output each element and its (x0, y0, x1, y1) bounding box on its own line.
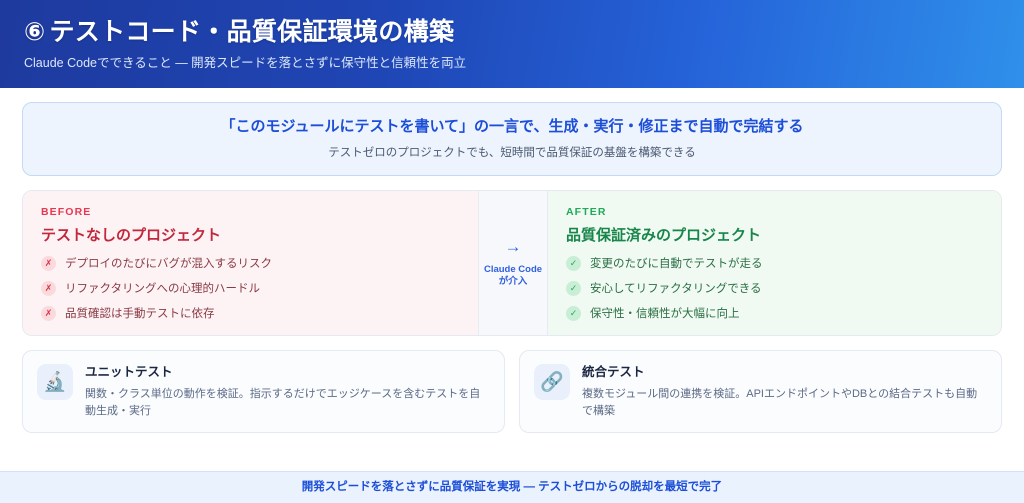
before-title: テストなしのプロジェクト (41, 227, 460, 245)
before-tag: BEFORE (41, 206, 460, 218)
hero-subtitle: テストゼロのプロジェクトでも、短時間で品質保証の基盤を構築できる (39, 146, 985, 161)
before-item-label: リファクタリングへの心理的ハードル (65, 282, 260, 296)
page-footer: 開発スピードを落とさずに品質保証を実現 — テストゼロからの脱却を最短で完了 (0, 471, 1024, 503)
feature-card-body: ユニットテスト 関数・クラス単位の動作を検証。指示するだけでエッジケースを含むテ… (85, 364, 490, 419)
after-item-label: 変更のたびに自動でテストが走る (590, 257, 763, 271)
list-item: ✓ 安心してリファクタリングできる (566, 281, 983, 296)
connector-label: Claude Code が介入 (484, 264, 542, 290)
hero-callout: 「このモジュールにテストを書いて」の一言で、生成・実行・修正まで自動で完結する … (22, 102, 1002, 176)
before-after-comparison: BEFORE テストなしのプロジェクト ✗ デプロイのたびにバグが混入するリスク… (22, 190, 1002, 336)
main-content: 「このモジュールにテストを書いて」の一言で、生成・実行・修正まで自動で完結する … (0, 88, 1024, 433)
footer-text: 開発スピードを落とさずに品質保証を実現 — テストゼロからの脱却を最短で完了 (302, 482, 722, 494)
transition-connector: → Claude Code が介入 (478, 191, 548, 335)
page-title: ⑥テストコード・品質保証環境の構築 (24, 17, 1000, 47)
after-item-label: 安心してリファクタリングできる (590, 282, 761, 296)
connector-label-line1: Claude Code (484, 264, 542, 275)
check-icon: ✓ (566, 306, 581, 321)
feature-card-description: 複数モジュール間の連携を検証。APIエンドポイントやDBとの結合テストも自動で構… (582, 386, 987, 419)
after-title: 品質保証済みのプロジェクト (566, 227, 983, 245)
list-item: ✗ リファクタリングへの心理的ハードル (41, 281, 460, 296)
before-list: ✗ デプロイのたびにバグが混入するリスク ✗ リファクタリングへの心理的ハードル… (41, 256, 460, 321)
section-number: ⑥ (24, 18, 45, 46)
list-item: ✓ 保守性・信頼性が大幅に向上 (566, 306, 983, 321)
connector-label-line2: が介入 (499, 276, 528, 287)
feature-card-body: 統合テスト 複数モジュール間の連携を検証。APIエンドポイントやDBとの結合テス… (582, 364, 987, 419)
after-list: ✓ 変更のたびに自動でテストが走る ✓ 安心してリファクタリングできる ✓ 保守… (566, 256, 983, 321)
after-item-label: 保守性・信頼性が大幅に向上 (590, 307, 740, 321)
feature-card-list: 🔬 ユニットテスト 関数・クラス単位の動作を検証。指示するだけでエッジケースを含… (22, 350, 1002, 433)
after-tag: AFTER (566, 206, 983, 218)
page-title-text: テストコード・品質保証環境の構築 (49, 18, 454, 46)
hero-title: 「このモジュールにテストを書いて」の一言で、生成・実行・修正まで自動で完結する (39, 117, 985, 137)
feature-card-description: 関数・クラス単位の動作を検証。指示するだけでエッジケースを含むテストを自動生成・… (85, 386, 490, 419)
after-panel: AFTER 品質保証済みのプロジェクト ✓ 変更のたびに自動でテストが走る ✓ … (548, 191, 1001, 335)
check-icon: ✓ (566, 256, 581, 271)
list-item: ✗ 品質確認は手動テストに依存 (41, 306, 460, 321)
microscope-icon: 🔬 (37, 364, 73, 400)
feature-card-title: ユニットテスト (85, 365, 490, 380)
page-subtitle: Claude Codeでできること — 開発スピードを落とさずに保守性と信頼性を… (24, 56, 1000, 71)
feature-card-integration-test: 🔗 統合テスト 複数モジュール間の連携を検証。APIエンドポイントやDBとの結合… (519, 350, 1002, 433)
before-item-label: デプロイのたびにバグが混入するリスク (65, 257, 272, 271)
list-item: ✓ 変更のたびに自動でテストが走る (566, 256, 983, 271)
before-panel: BEFORE テストなしのプロジェクト ✗ デプロイのたびにバグが混入するリスク… (23, 191, 478, 335)
cross-icon: ✗ (41, 256, 56, 271)
list-item: ✗ デプロイのたびにバグが混入するリスク (41, 256, 460, 271)
feature-card-unit-test: 🔬 ユニットテスト 関数・クラス単位の動作を検証。指示するだけでエッジケースを含… (22, 350, 505, 433)
arrow-right-icon: → (505, 238, 522, 255)
feature-card-title: 統合テスト (582, 365, 987, 380)
page-header: ⑥テストコード・品質保証環境の構築 Claude Codeでできること — 開発… (0, 0, 1024, 88)
link-icon: 🔗 (534, 364, 570, 400)
check-icon: ✓ (566, 281, 581, 296)
cross-icon: ✗ (41, 281, 56, 296)
before-item-label: 品質確認は手動テストに依存 (65, 307, 215, 321)
cross-icon: ✗ (41, 306, 56, 321)
